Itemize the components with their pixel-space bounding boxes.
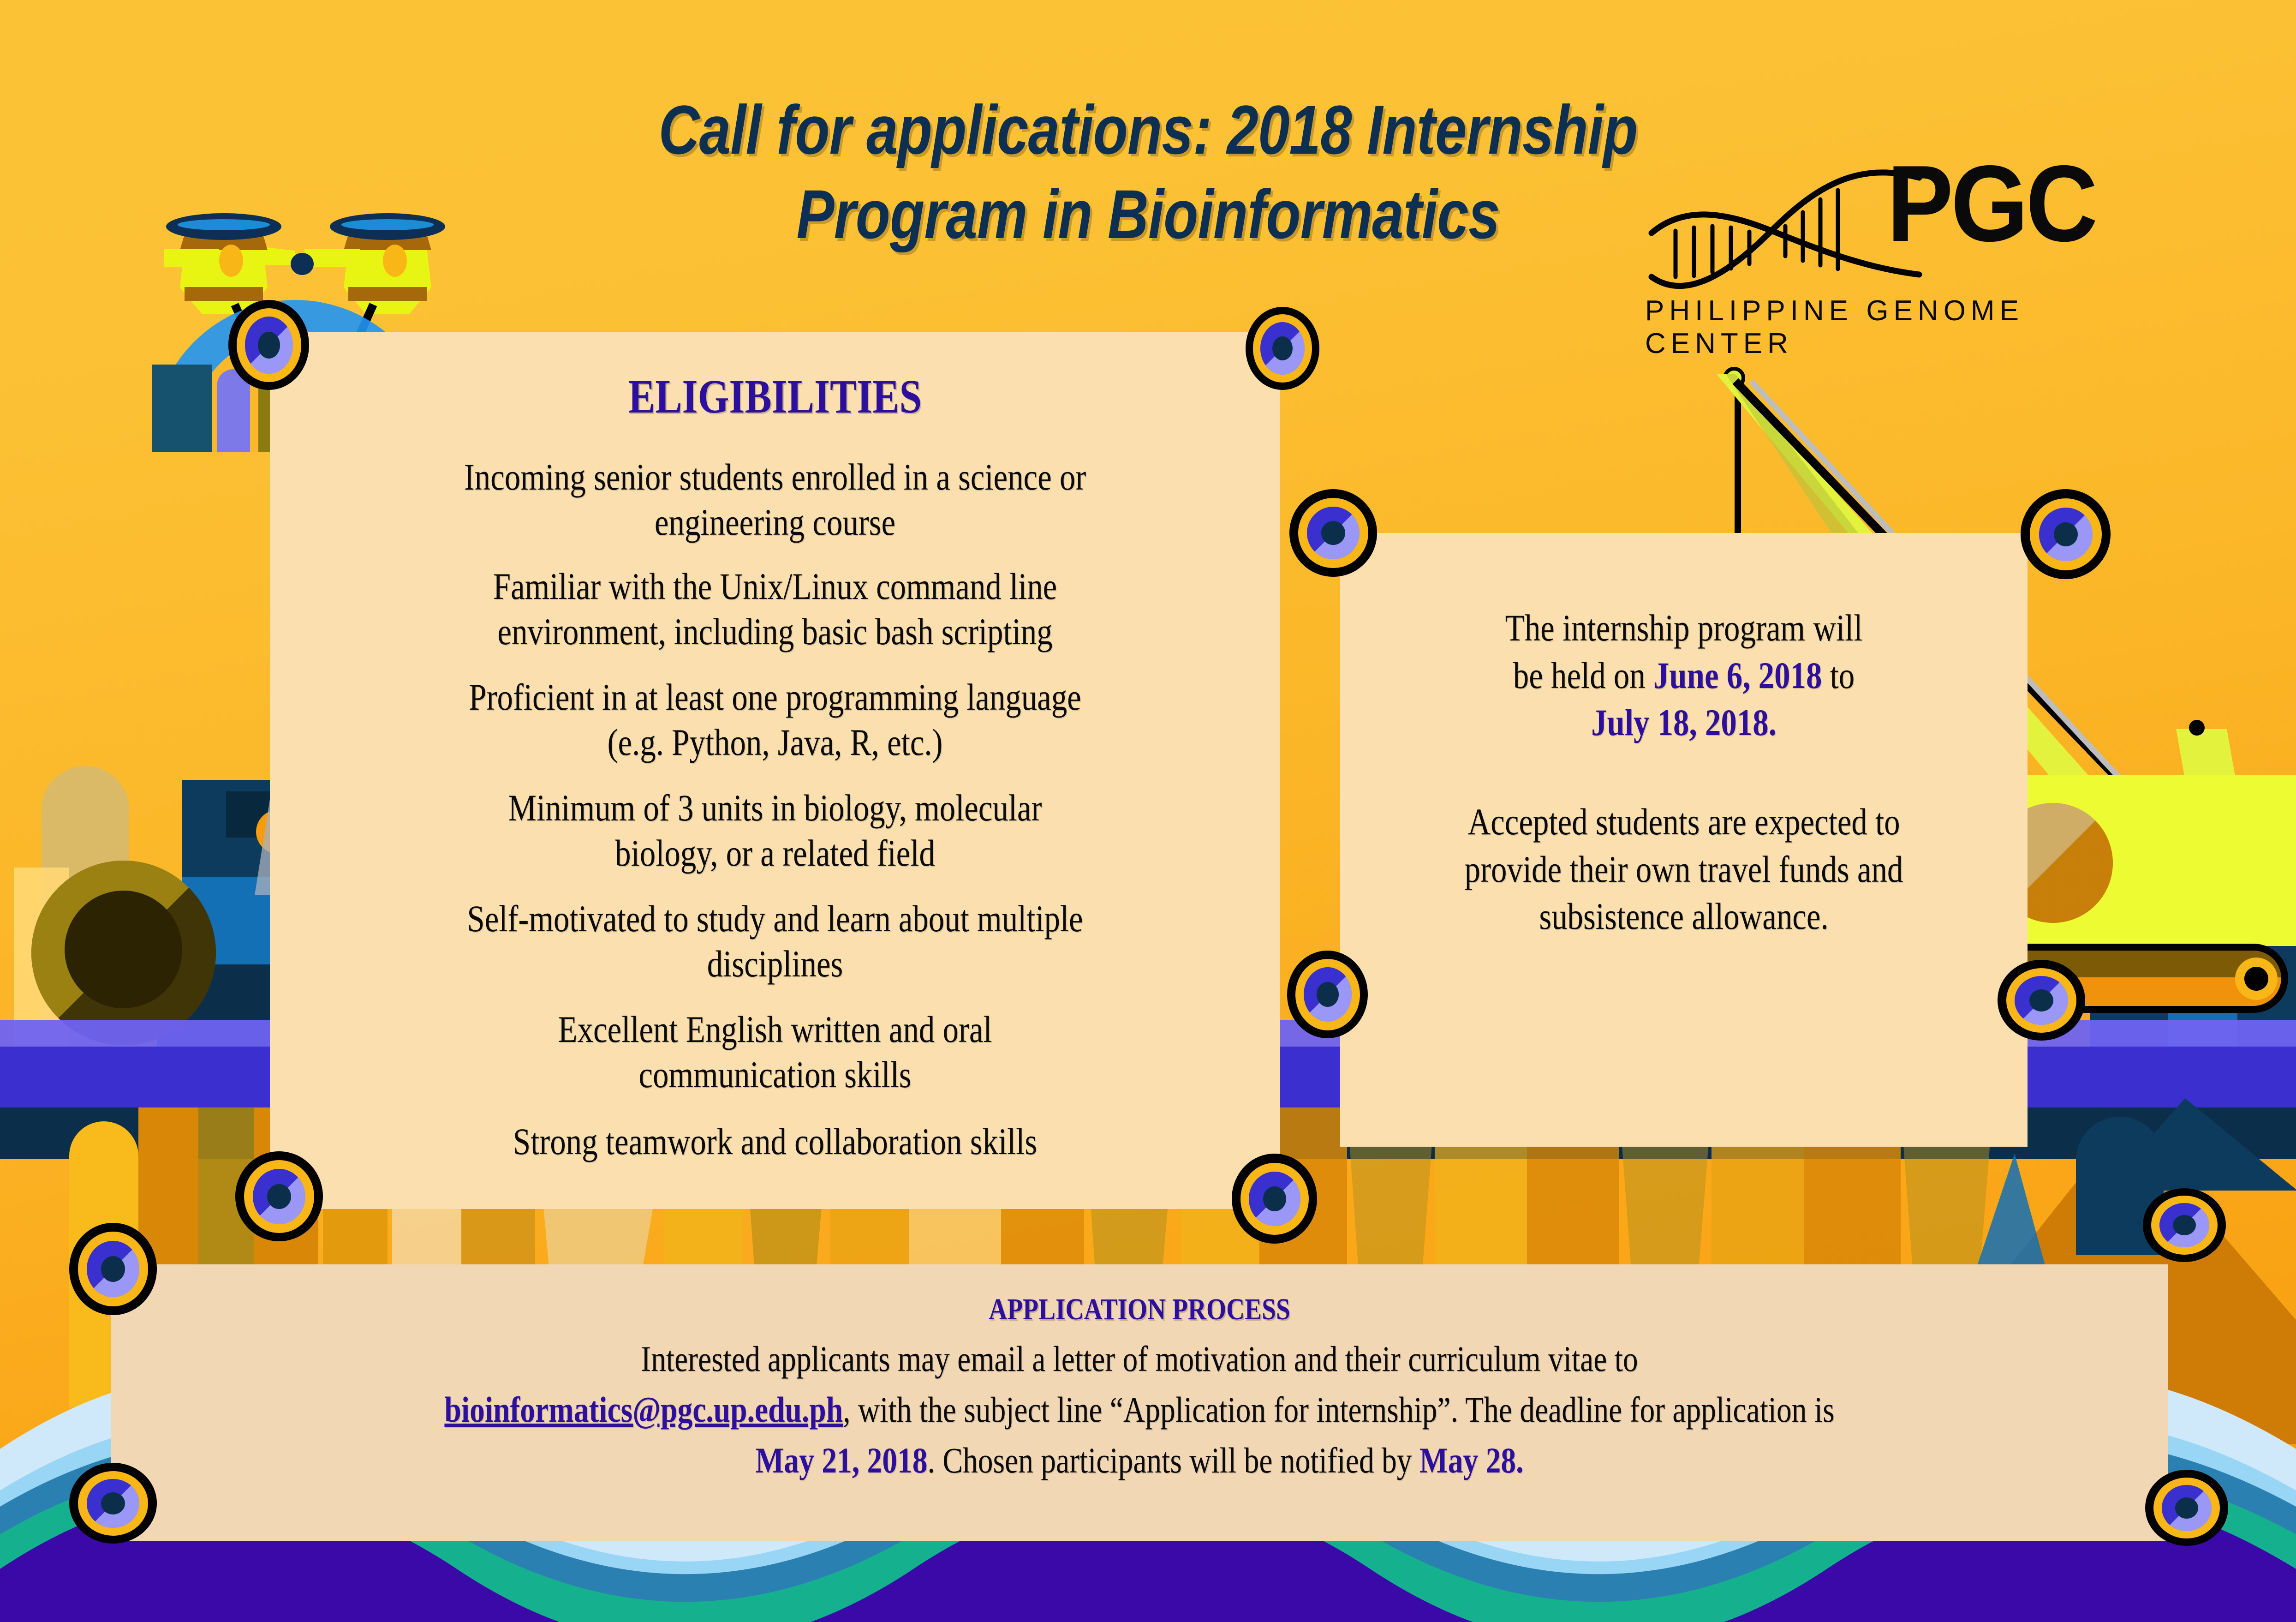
- eligibility-item: Proficient in at least one programming l…: [364, 675, 1186, 766]
- poster-canvas: Call for applications: 2018 Internship P…: [0, 0, 2296, 1622]
- lens-iris: [1307, 507, 1360, 559]
- application-subject-note: , with the subject line “Application for…: [843, 1389, 1834, 1430]
- lens-eye-icon: [69, 1223, 157, 1315]
- lens-pupil: [267, 1184, 291, 1209]
- eligibility-item: Self-motivated to study and learn about …: [364, 896, 1186, 987]
- application-email[interactable]: bioinformatics@pgc.up.edu.ph: [444, 1389, 843, 1430]
- lens-iris: [2162, 1485, 2212, 1531]
- application-line-1: Interested applicants may email a letter…: [291, 1338, 1988, 1380]
- lens-iris: [1260, 322, 1305, 375]
- pgc-full-name: PHILIPPINE GENOME CENTER: [1645, 294, 2150, 360]
- lens-eye-icon: [1998, 960, 2085, 1041]
- schedule-mid: to: [1822, 654, 1855, 696]
- lens-pupil: [1272, 336, 1293, 360]
- lens-ring: [1253, 314, 1312, 383]
- eligibility-item: Familiar with the Unix/Linux command lin…: [364, 564, 1186, 655]
- lens-iris: [253, 1169, 305, 1224]
- lens-pupil: [2029, 989, 2053, 1012]
- schedule-start-date: June 6, 2018: [1653, 654, 1822, 696]
- lens-iris: [1249, 1172, 1300, 1226]
- gear-hub: [65, 891, 182, 1008]
- lens-pupil: [258, 332, 280, 359]
- lens-pupil: [1263, 1186, 1286, 1211]
- lens-eye-icon: [235, 1151, 323, 1241]
- lens-ring: [237, 308, 301, 382]
- crane-wheel-hub: [2244, 967, 2268, 991]
- lens-eye-icon: [1246, 307, 1319, 390]
- lens-pupil: [101, 1492, 125, 1514]
- application-notify-date: May 28.: [1419, 1440, 1524, 1480]
- schedule-dates: The internship program will be held on J…: [1409, 605, 1959, 747]
- lens-pupil: [2175, 1497, 2198, 1519]
- lens-iris: [87, 1241, 139, 1297]
- schedule-note: Accepted students are expected to provid…: [1409, 798, 1959, 940]
- lens-pupil: [1321, 521, 1345, 545]
- lens-eye-icon: [228, 300, 309, 390]
- eligibility-item: Strong teamwork and collaboration skills: [364, 1119, 1186, 1164]
- crane-jib-pivot: [2189, 720, 2205, 736]
- lens-ring: [78, 1471, 148, 1536]
- lens-ring: [1295, 959, 1360, 1030]
- lens-eye-icon: [1289, 489, 1377, 577]
- application-deadline: May 21, 2018: [755, 1440, 927, 1480]
- lens-eye-icon: [2145, 1470, 2228, 1546]
- eligibility-item: Excellent English written and oral commu…: [364, 1007, 1186, 1098]
- eligibility-item: Incoming senior students enrolled in a s…: [364, 455, 1186, 545]
- lens-pupil: [101, 1256, 125, 1282]
- eligibility-item: Minimum of 3 units in biology, molecular…: [364, 785, 1186, 876]
- lens-iris: [1304, 967, 1352, 1022]
- lens-pupil: [1317, 982, 1339, 1007]
- lens-ring: [2006, 968, 2076, 1033]
- lens-iris: [2039, 508, 2093, 561]
- lens-iris: [2015, 976, 2068, 1025]
- eligibilities-heading: ELIGIBILITIES: [351, 369, 1199, 424]
- drone-pod-right-band: [348, 287, 427, 301]
- application-notify-note: . Chosen participants will be notified b…: [928, 1440, 1419, 1480]
- lens-ring: [2153, 1478, 2220, 1538]
- lens-eye-icon: [69, 1463, 157, 1544]
- lens-pupil: [2173, 1215, 2196, 1235]
- lens-iris: [245, 317, 293, 374]
- lens-ring: [1240, 1163, 1309, 1235]
- lens-ring: [244, 1160, 314, 1233]
- pgc-acronym: PGC: [1887, 157, 2095, 250]
- lens-ring: [78, 1232, 148, 1306]
- lens-iris: [87, 1479, 139, 1528]
- lens-ring: [2030, 498, 2102, 570]
- lens-ring: [1298, 498, 1368, 568]
- lens-eye-icon: [1232, 1154, 1317, 1244]
- pgc-logo: PGC PHILIPPINE GENOME CENTER: [1642, 166, 2150, 314]
- application-heading: APPLICATION PROCESS: [275, 1292, 2004, 1327]
- lens-ring: [2151, 1196, 2218, 1255]
- lens-iris: [2159, 1203, 2209, 1247]
- lens-pupil: [2054, 522, 2078, 546]
- application-line-2: bioinformatics@pgc.up.edu.ph, with the s…: [291, 1389, 1988, 1430]
- lens-eye-icon: [2143, 1188, 2226, 1262]
- drone-pod-left-band: [185, 287, 263, 301]
- lens-eye-icon: [2021, 489, 2111, 579]
- application-line-3: May 21, 2018. Chosen participants will b…: [291, 1440, 1988, 1481]
- arch-foot-left: [152, 365, 212, 452]
- schedule-end-date: July 18, 2018.: [1591, 701, 1777, 743]
- lens-eye-icon: [1287, 951, 1368, 1038]
